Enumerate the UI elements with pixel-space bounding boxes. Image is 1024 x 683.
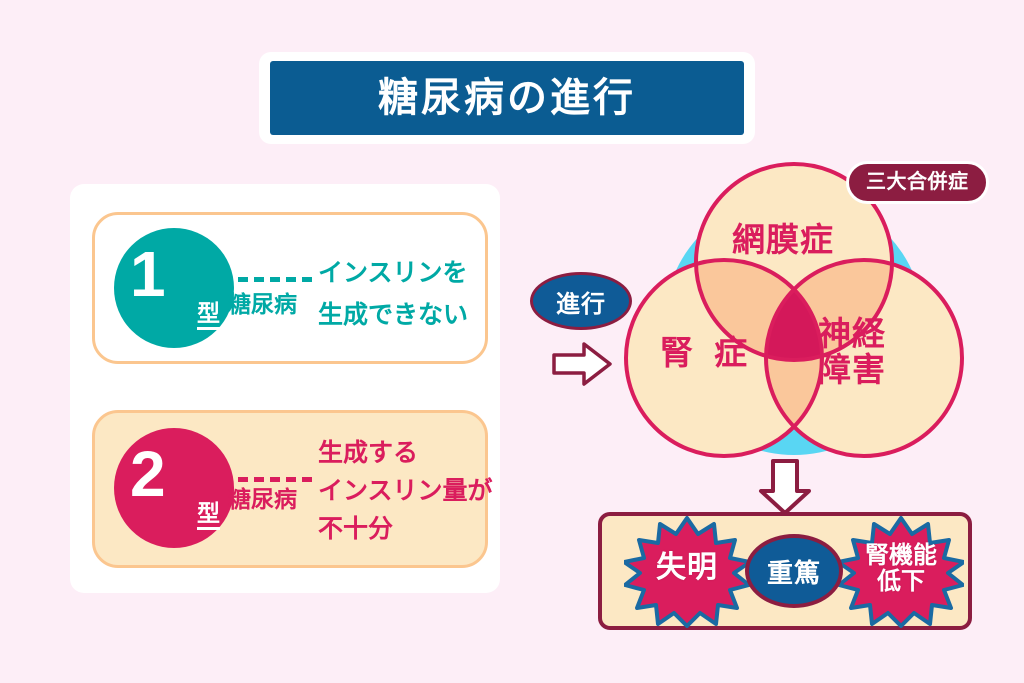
type2-description-line-3: 不十分: [318, 510, 493, 548]
infographic-canvas: 糖尿病の進行 1 型 糖尿病 インスリンを 生成できない 2 型 糖尿病 生成す…: [0, 0, 1024, 683]
type1-sublabel: 糖尿病: [228, 293, 297, 316]
progression-badge: 進行: [530, 272, 632, 330]
page-title: 糖尿病の進行: [378, 78, 636, 118]
complications-badge: 三大合併症: [846, 161, 989, 204]
venn-label-neuropathy-line-1: 神経: [818, 316, 886, 352]
venn-label-neuropathy: 神経 障害: [818, 316, 886, 387]
type2-description-line-2: インスリン量が: [318, 472, 493, 510]
venn-diagram: 網膜症 腎 症 神経 障害: [624, 160, 964, 460]
type1-number: 1: [130, 242, 164, 306]
blindness-label: 失明: [624, 552, 750, 584]
type2-description: 生成する インスリン量が 不十分: [318, 434, 493, 548]
arrow-right-icon: [551, 340, 613, 388]
type2-description-line-1: 生成する: [318, 434, 493, 472]
type1-dashed-connector: [238, 277, 312, 282]
type1-description-line-1: インスリンを: [318, 252, 468, 294]
venn-label-neuropathy-line-2: 障害: [818, 352, 886, 388]
type2-badge-circle: 2 型: [114, 428, 234, 548]
kidney-decline-label: 腎機能 低下: [838, 543, 964, 595]
venn-label-nephropathy: 腎 症: [660, 335, 753, 371]
type1-kata: 型: [197, 302, 220, 330]
type2-kata: 型: [197, 502, 220, 530]
venn-label-retinopathy: 網膜症: [732, 222, 834, 258]
type1-description-line-2: 生成できない: [318, 294, 468, 336]
type2-dashed-connector: [238, 477, 312, 482]
title-banner: 糖尿病の進行: [270, 61, 744, 135]
arrow-down-icon: [757, 458, 813, 516]
type2-sublabel: 糖尿病: [228, 488, 297, 511]
severe-badge: 重篤: [745, 534, 843, 608]
kidney-decline-line-1: 腎機能: [838, 543, 964, 569]
kidney-decline-line-2: 低下: [838, 569, 964, 595]
type1-badge-circle: 1 型: [114, 228, 234, 348]
type2-number: 2: [130, 442, 164, 506]
progression-label: 進行: [556, 284, 606, 319]
severe-label: 重篤: [767, 553, 821, 590]
type1-description: インスリンを 生成できない: [318, 252, 468, 336]
